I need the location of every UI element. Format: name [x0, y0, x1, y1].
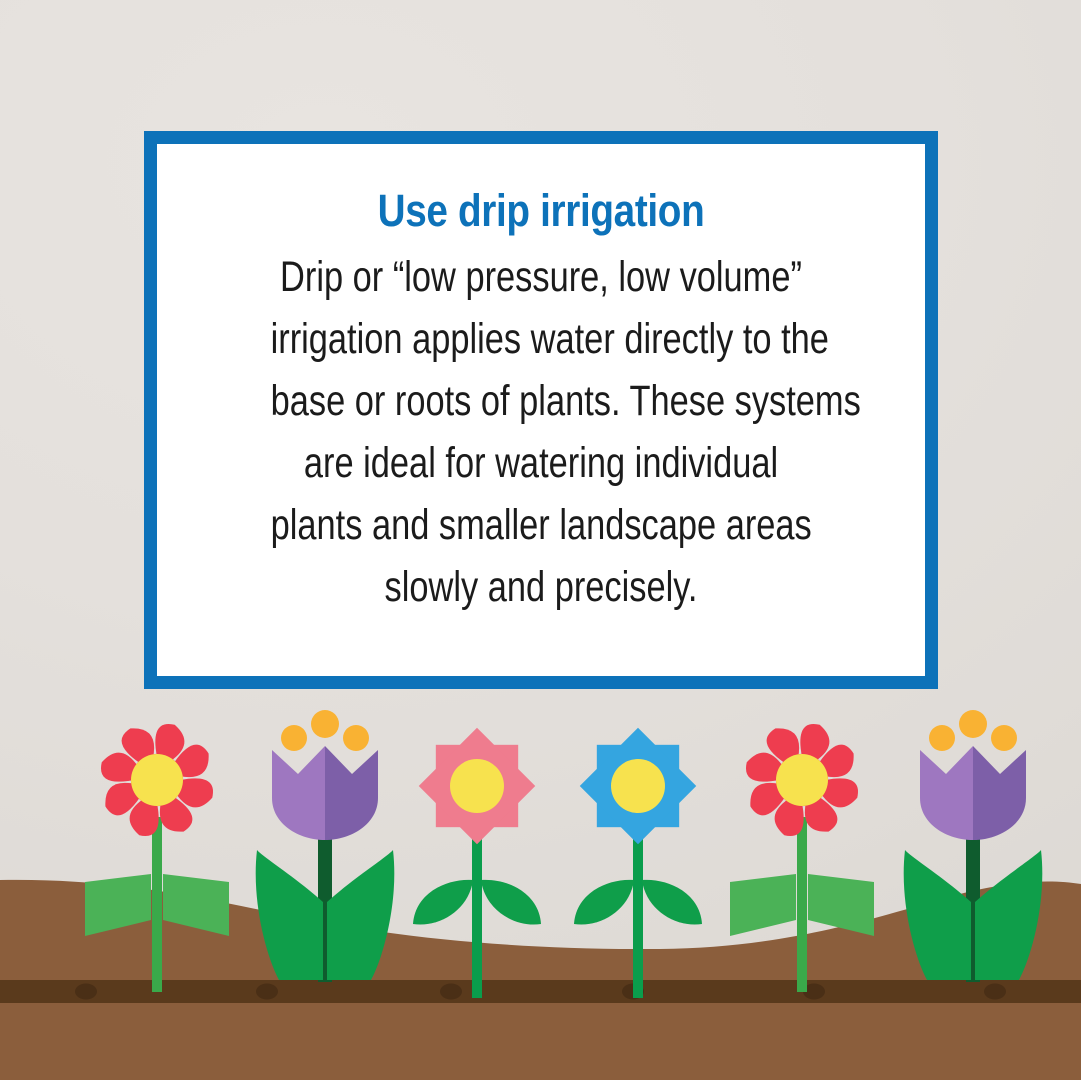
pollen-dot-right-icon — [343, 725, 369, 751]
card-body-line: base or roots of plants. These systems — [271, 370, 812, 432]
card-body-line: plants and smaller landscape areas — [271, 494, 812, 556]
card-body-line: Drip or “low pressure, low volume” — [271, 246, 812, 308]
flower-center — [131, 754, 183, 806]
stem — [152, 817, 162, 992]
page-title: Use drip irrigation — [250, 186, 831, 236]
tulip-petal-left — [272, 746, 325, 840]
poster-scene: Use drip irrigation Drip or “low pressur… — [0, 0, 1081, 1080]
card-body-line: slowly and precisely. — [271, 556, 812, 618]
leaf-left — [413, 880, 473, 925]
tulip-purple-2 — [888, 712, 1058, 1012]
leaf-left — [730, 874, 796, 936]
star-blue-1-container — [553, 728, 723, 1028]
flower-center — [776, 754, 828, 806]
leaf-right — [327, 850, 394, 980]
card-body-text: Drip or “low pressure, low volume”irriga… — [271, 246, 812, 618]
leaf-left — [574, 880, 634, 925]
card-body-line: irrigation applies water directly to the — [271, 308, 812, 370]
leaf-right — [481, 880, 541, 925]
tulip-petal-right — [973, 746, 1026, 840]
daisy-red-2 — [717, 722, 887, 1022]
info-card-inner: Use drip irrigation Drip or “low pressur… — [157, 144, 925, 676]
stem — [633, 823, 643, 998]
daisy-red-1 — [72, 722, 242, 1022]
tulip-purple-2-container — [888, 712, 1058, 1012]
card-body-line: are ideal for watering individual — [271, 432, 812, 494]
tulip-petal-left — [920, 746, 973, 840]
star-pink-1-container — [392, 728, 562, 1028]
pollen-dot-right-icon — [991, 725, 1017, 751]
star-blue-1 — [553, 728, 723, 1028]
stem — [797, 817, 807, 992]
info-card: Use drip irrigation Drip or “low pressur… — [144, 131, 938, 689]
stem — [472, 823, 482, 998]
leaf-left — [85, 874, 151, 936]
pollen-dot-left-icon — [929, 725, 955, 751]
flower-center — [611, 759, 665, 813]
leaf-left — [904, 850, 971, 980]
leaf-right — [642, 880, 702, 925]
star-pink-1 — [392, 728, 562, 1028]
leaf-right — [808, 874, 874, 936]
tulip-purple-1-container — [240, 712, 410, 1012]
tulip-purple-1 — [240, 712, 410, 1012]
leaf-left — [256, 850, 323, 980]
leaf-right — [163, 874, 229, 936]
pollen-dot-center-icon — [311, 710, 339, 738]
tulip-petal-right — [325, 746, 378, 840]
pollen-dot-center-icon — [959, 710, 987, 738]
daisy-red-1-container — [72, 722, 242, 1022]
flower-center — [450, 759, 504, 813]
leaf-right — [975, 850, 1042, 980]
daisy-red-2-container — [717, 722, 887, 1022]
pollen-dot-left-icon — [281, 725, 307, 751]
